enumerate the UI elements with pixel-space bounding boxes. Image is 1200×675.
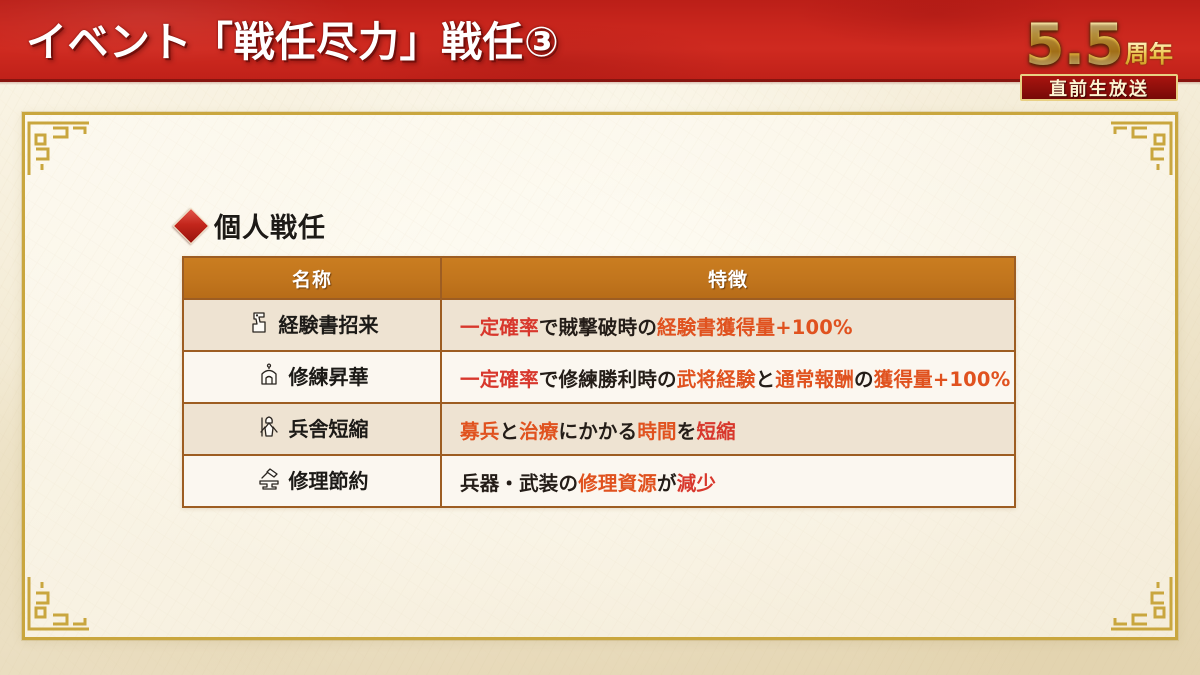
feature-text-segment: と [499,420,519,443]
skill-name-wrap: 経験書招来 [246,309,379,338]
page-title: イベント「戦任尽力」戦任③ [26,8,559,68]
feature-text-segment: 治療 [519,420,558,443]
skill-feature-cell: 募兵と治療にかかる時間を短縮 [441,403,1015,455]
feature-text-segment: 募兵 [460,420,499,443]
anniversary-unit: 周年 [1125,42,1173,72]
broadcast-badge: 直前生放送 [1020,74,1178,101]
feature-text-segment: にかかる [559,420,638,443]
diamond-icon [173,207,210,244]
feature-text-segment: 兵器・武装の [460,472,578,495]
column-header-feature: 特徴 [441,257,1015,299]
skill-name-label: 経験書招来 [279,309,379,338]
table-header-row: 名称 特徴 [183,257,1015,299]
feature-text-segment: の [854,368,874,391]
feature-text-segment: 武将経験 [677,368,756,391]
hammer-anvil-icon [256,466,282,492]
feature-text-segment: が [657,472,677,495]
feature-text-segment: 時間 [637,420,676,443]
skill-name-wrap: 兵舎短縮 [256,413,369,442]
skills-table: 名称 特徴 経験書招来一定確率で賊撃破時の経験書獲得量+100%修練昇華一定確率… [182,256,1016,508]
feature-text-segment: と [756,368,776,391]
anniversary-logo: 5.5 周年 直前生放送 [1008,2,1190,110]
skill-name-cell: 経験書招来 [183,299,441,351]
skill-name-wrap: 修理節約 [256,465,369,494]
corner-ornament-icon [23,575,97,639]
section-title: 個人戦任 [214,206,326,245]
skill-name-cell: 修練昇華 [183,351,441,403]
anniversary-number: 5.5 [1025,18,1123,72]
skill-name-cell: 兵舎短縮 [183,403,441,455]
skill-name-cell: 修理節約 [183,455,441,507]
feature-text-segment: 通常報酬 [775,368,854,391]
scroll-icon [246,310,272,336]
feature-text-segment: 一定確率 [460,368,539,391]
skill-name-label: 修練昇華 [289,361,369,390]
table-row: 修練昇華一定確率で修練勝利時の武将経験と通常報酬の獲得量+100% [183,351,1015,403]
section-heading: 個人戦任 [178,206,326,245]
feature-text-segment: で修練勝利時の [539,368,677,391]
skill-name-label: 修理節約 [289,465,369,494]
skill-name-wrap: 修練昇華 [256,361,369,390]
corner-ornament-icon [23,113,97,177]
skill-name-label: 兵舎短縮 [289,413,369,442]
feature-text-segment: 一定確率 [460,316,539,339]
feature-text-segment: 獲得量+100% [874,368,1011,391]
feature-text-segment: 短縮 [696,420,735,443]
slide-root: イベント「戦任尽力」戦任③ 5.5 周年 直前生放送 [0,0,1200,675]
skill-feature-cell: 一定確率で修練勝利時の武将経験と通常報酬の獲得量+100% [441,351,1015,403]
column-header-name: 名称 [183,257,441,299]
table-header: 名称 特徴 [183,257,1015,299]
skill-feature-cell: 一定確率で賊撃破時の経験書獲得量+100% [441,299,1015,351]
feature-text-segment: 経験書獲得量+100% [657,316,853,339]
gate-icon [256,362,282,388]
table-body: 経験書招来一定確率で賊撃破時の経験書獲得量+100%修練昇華一定確率で修練勝利時… [183,299,1015,507]
table-row: 兵舎短縮募兵と治療にかかる時間を短縮 [183,403,1015,455]
anniversary-logo-main: 5.5 周年 [1008,2,1190,72]
table-row: 経験書招来一定確率で賊撃破時の経験書獲得量+100% [183,299,1015,351]
table-row: 修理節約兵器・武装の修理資源が減少 [183,455,1015,507]
corner-ornament-icon [1103,113,1177,177]
skill-feature-cell: 兵器・武装の修理資源が減少 [441,455,1015,507]
corner-ornament-icon [1103,575,1177,639]
feature-text-segment: を [677,420,697,443]
feature-text-segment: 修理資源 [578,472,657,495]
feature-text-segment: で賊撃破時の [539,316,657,339]
feature-text-segment: 減少 [677,472,716,495]
soldier-icon [256,414,282,440]
